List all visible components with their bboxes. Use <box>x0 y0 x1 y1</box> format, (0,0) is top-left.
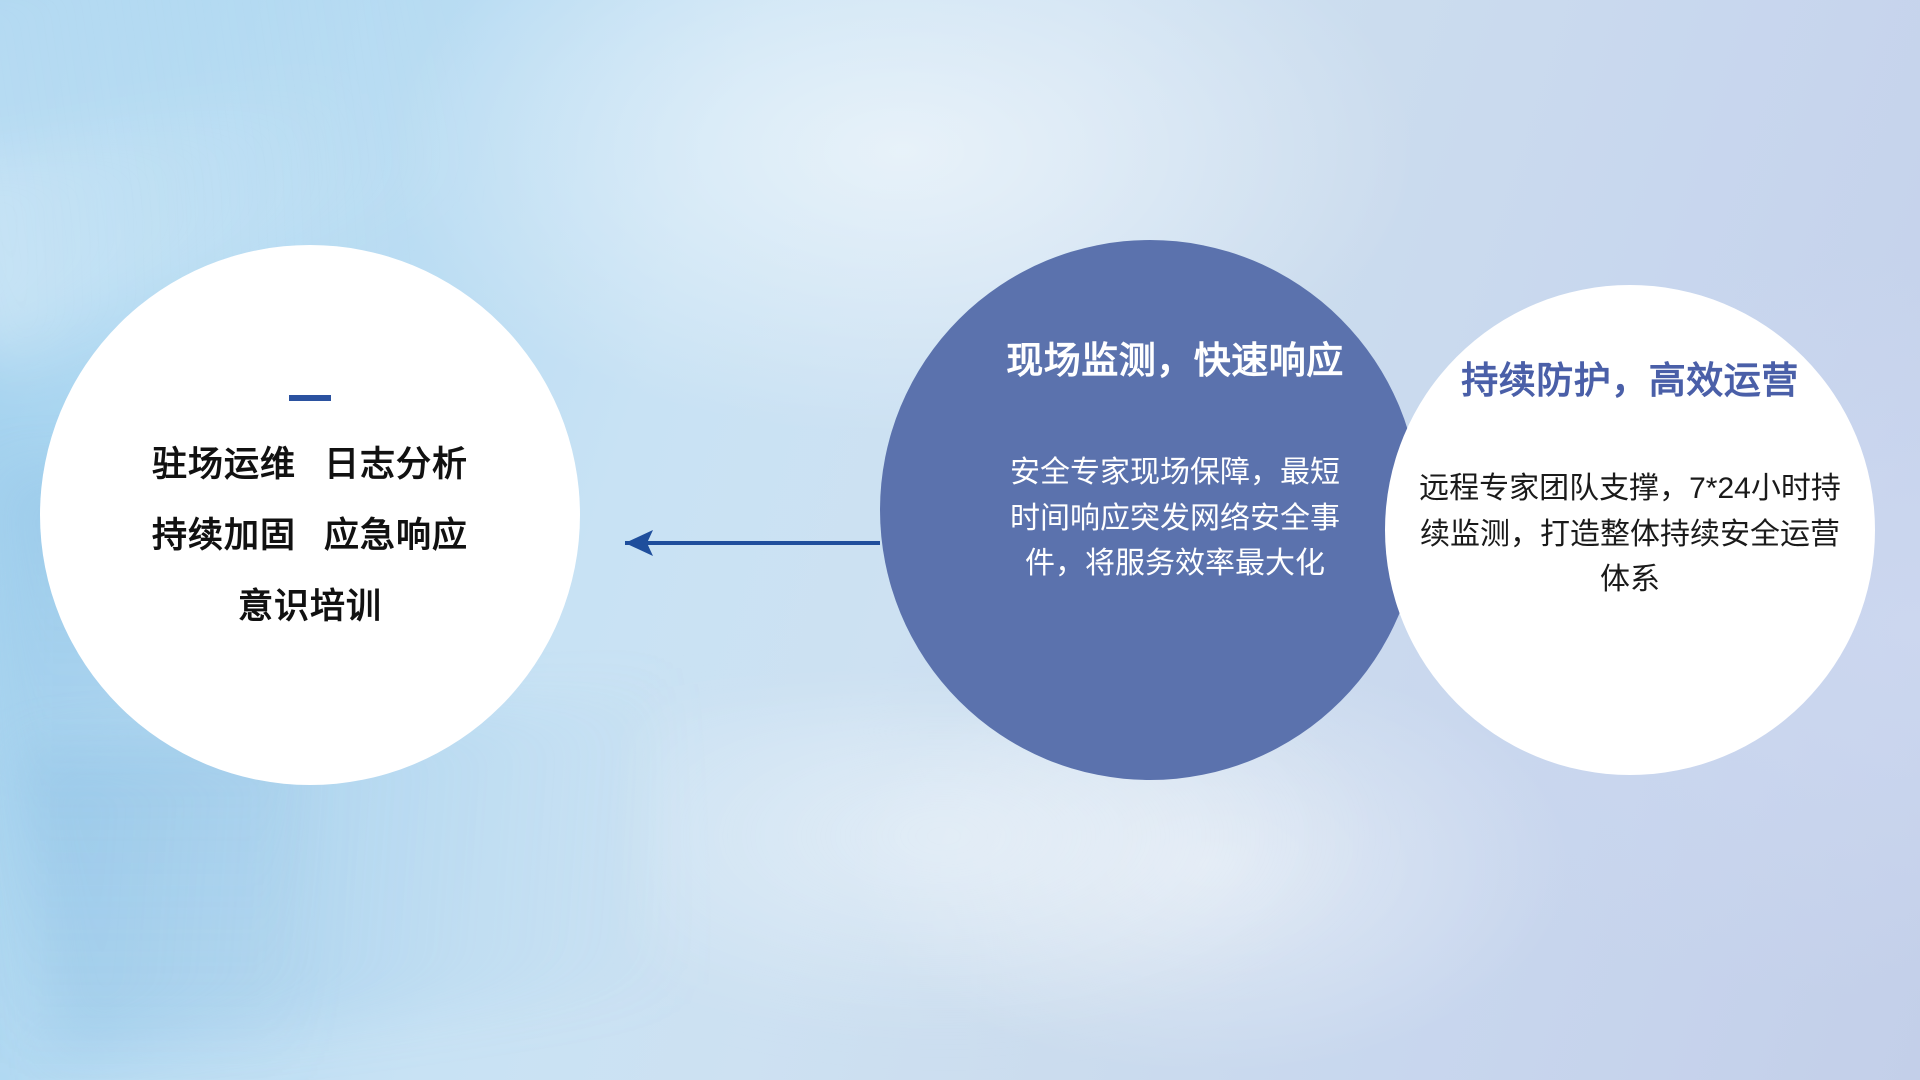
left-circle-line-1: 驻场运维日志分析 <box>152 447 468 482</box>
left-circle-line-2: 持续加固应急响应 <box>152 518 468 553</box>
right-circle-content: 持续防护，高效运营 远程专家团队支撑，7*24小时持续监测，打造整体持续安全运营… <box>1385 285 1875 775</box>
service-tag-chixujiagu: 持续加固 <box>152 516 296 555</box>
service-tag-zhuchangyunwei: 驻场运维 <box>152 445 296 484</box>
middle-circle-heading: 现场监测，快速响应 <box>1006 330 1344 384</box>
right-circle-heading: 持续防护，高效运营 <box>1461 350 1799 404</box>
slide-canvas: 驻场运维日志分析 持续加固应急响应 意识培训 现场监测，快速响应 安全专家现场保… <box>0 0 1920 1080</box>
middle-circle-body: 安全专家现场保障，最短时间响应突发网络安全事件，将服务效率最大化 <box>1010 450 1340 587</box>
arrow-left-icon <box>595 520 885 566</box>
right-circle-body: 远程专家团队支撑，7*24小时持续监测，打造整体持续安全运营体系 <box>1415 466 1845 603</box>
service-tag-yishipeixun: 意识培训 <box>238 587 382 626</box>
service-tag-yingjixiangying: 应急响应 <box>324 516 468 555</box>
left-circle-line-3: 意识培训 <box>238 589 382 624</box>
service-tag-rizhifenxi: 日志分析 <box>324 445 468 484</box>
middle-circle-content: 现场监测，快速响应 安全专家现场保障，最短时间响应突发网络安全事件，将服务效率最… <box>880 240 1420 780</box>
horizontal-dash-icon <box>289 395 331 401</box>
left-circle-content: 驻场运维日志分析 持续加固应急响应 意识培训 <box>40 245 580 785</box>
